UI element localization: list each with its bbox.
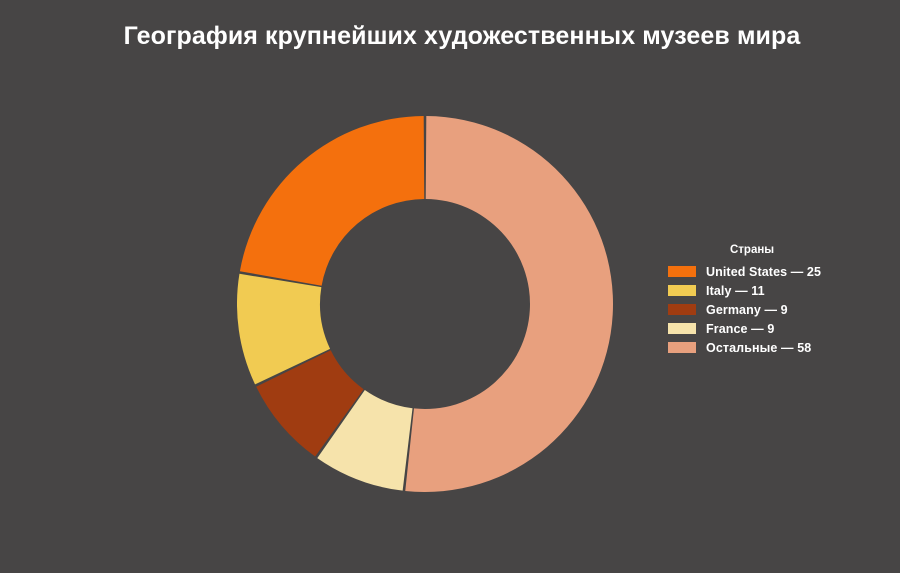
- pie-slice-4[interactable]: United States — 25: [240, 116, 424, 286]
- legend-swatch-icon: [668, 304, 696, 315]
- legend-item-label: France — 9: [706, 322, 774, 336]
- legend: Страны United States — 25Italy — 11Germa…: [668, 244, 888, 357]
- legend-item[interactable]: United States — 25: [668, 262, 888, 281]
- legend-title: Страны: [668, 244, 888, 256]
- legend-item-label: Остальные — 58: [706, 341, 811, 355]
- legend-item[interactable]: Italy — 11: [668, 281, 888, 300]
- chart-title: География крупнейших художественных музе…: [0, 22, 900, 51]
- donut-chart-svg: Остальные — 58France — 9Germany — 9Italy…: [237, 116, 613, 492]
- legend-item-label: Germany — 9: [706, 303, 788, 317]
- chart-container: География крупнейших художественных музе…: [0, 0, 900, 573]
- legend-item[interactable]: France — 9: [668, 319, 888, 338]
- slice-layer: Остальные — 58France — 9Germany — 9Italy…: [237, 116, 613, 492]
- legend-swatch-icon: [668, 266, 696, 277]
- legend-swatch-icon: [668, 342, 696, 353]
- legend-item[interactable]: Остальные — 58: [668, 338, 888, 357]
- donut-chart: Остальные — 58France — 9Germany — 9Italy…: [237, 116, 613, 492]
- legend-item-label: United States — 25: [706, 265, 821, 279]
- legend-swatch-icon: [668, 285, 696, 296]
- pie-slice-0[interactable]: Остальные — 58: [405, 116, 613, 492]
- legend-swatch-icon: [668, 323, 696, 334]
- legend-item-label: Italy — 11: [706, 284, 765, 298]
- legend-item[interactable]: Germany — 9: [668, 300, 888, 319]
- legend-items: United States — 25Italy — 11Germany — 9F…: [668, 262, 888, 357]
